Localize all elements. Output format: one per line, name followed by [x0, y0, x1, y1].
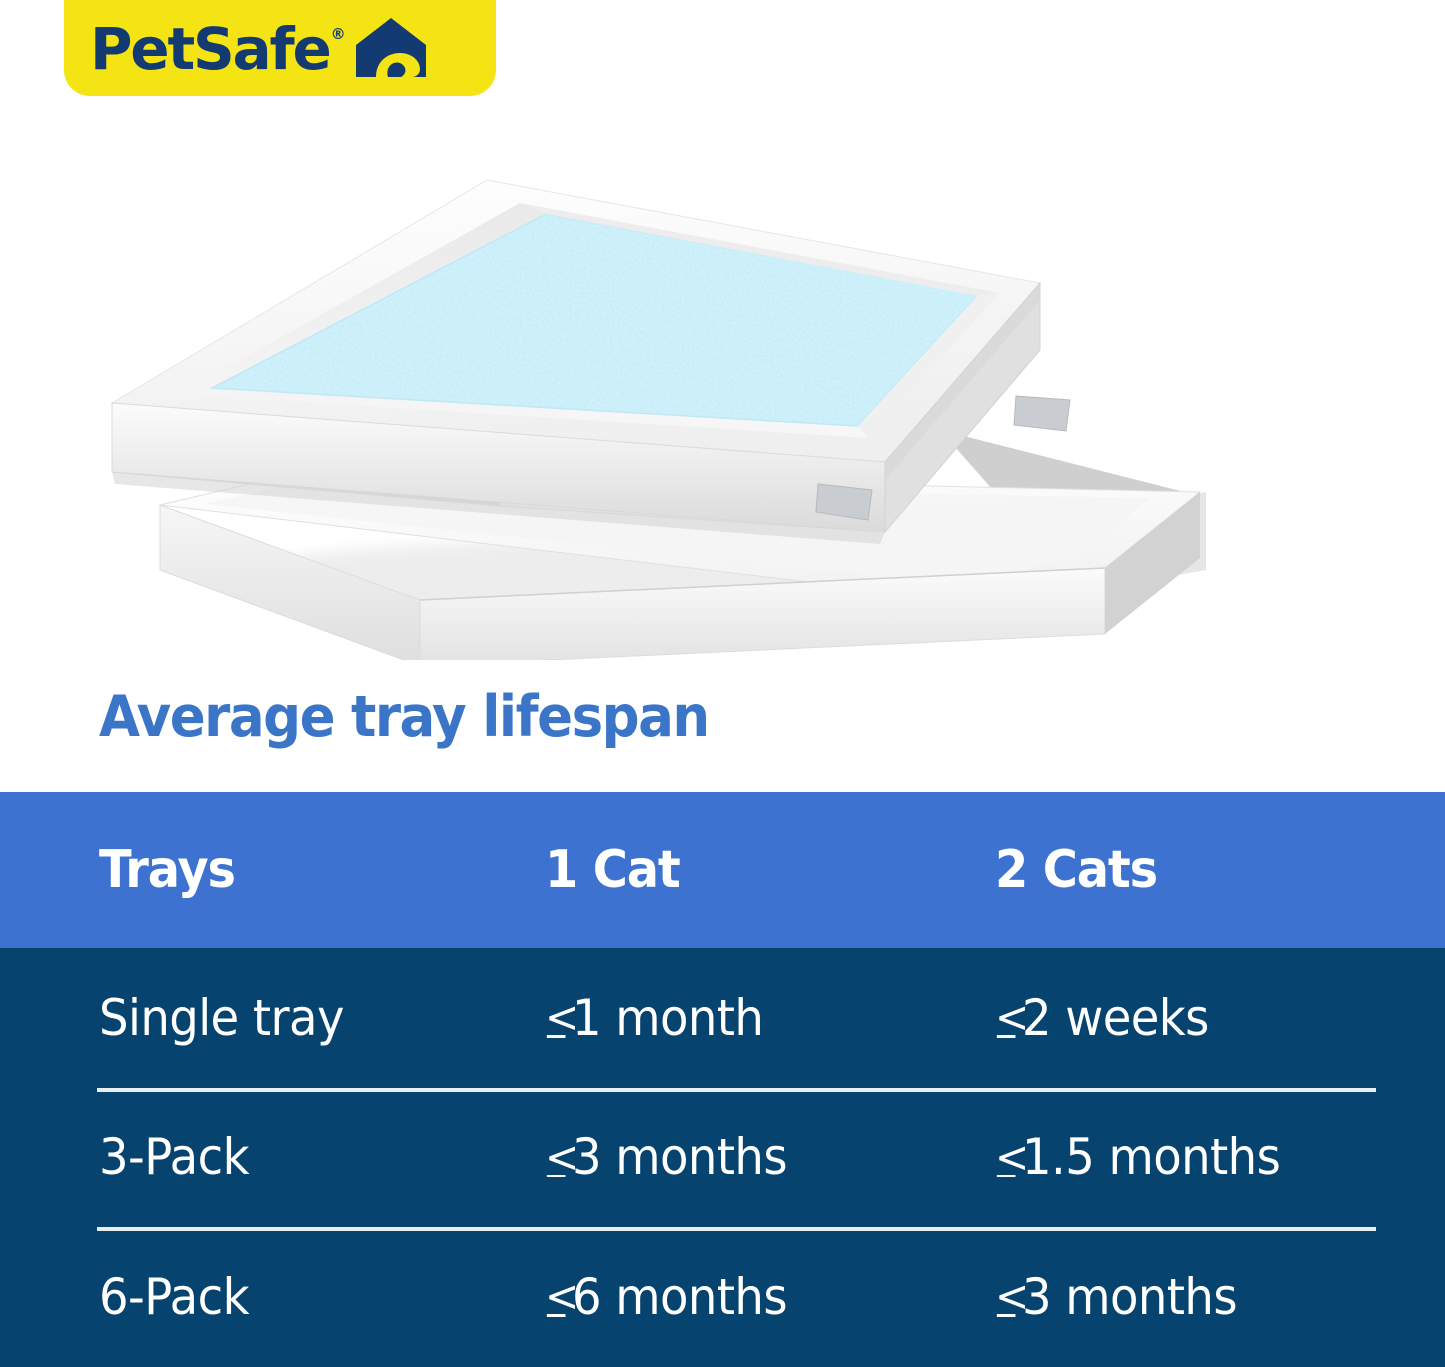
table-row: 3-Pack <3 months <1.5 months	[0, 1088, 1445, 1228]
cell-one-cat-lifespan: <1 month	[545, 993, 763, 1043]
less-than-or-equal-icon: <	[545, 998, 566, 1035]
brand-name-text: PetSafe	[90, 15, 330, 83]
cell-one-cat-lifespan: <6 months	[545, 1272, 787, 1322]
table-header-row: Trays 1 Cat 2 Cats	[0, 792, 1445, 948]
product-photo	[0, 100, 1445, 660]
less-than-or-equal-icon: <	[995, 1137, 1016, 1174]
page-title: Average tray lifespan	[99, 688, 709, 748]
top-tray	[105, 178, 1070, 532]
row-divider	[97, 1088, 1376, 1092]
lifespan-table: Trays 1 Cat 2 Cats Single tray <1 month …	[0, 792, 1445, 1367]
cell-two-cats-lifespan: <1.5 months	[995, 1132, 1280, 1182]
less-than-or-equal-icon: <	[995, 1277, 1016, 1314]
cell-one-cat-value: 3 months	[572, 1128, 787, 1186]
cell-one-cat-value: 6 months	[572, 1268, 787, 1326]
cell-two-cats-lifespan: <2 weeks	[995, 993, 1209, 1043]
brand-wordmark: PetSafe®	[90, 20, 345, 78]
cell-tray-type: 6-Pack	[99, 1272, 249, 1322]
cell-two-cats-lifespan: <3 months	[995, 1272, 1237, 1322]
column-header-two-cats: 2 Cats	[995, 844, 1157, 896]
less-than-or-equal-icon: <	[545, 1277, 566, 1314]
less-than-or-equal-icon: <	[545, 1137, 566, 1174]
house-with-swoosh-icon	[354, 17, 428, 84]
registered-trademark-icon: ®	[331, 25, 346, 43]
table-row: Single tray <1 month <2 weeks	[0, 948, 1445, 1088]
brand-logo-badge: PetSafe®	[64, 0, 496, 96]
cell-tray-type: 3-Pack	[99, 1132, 249, 1182]
cell-tray-type: Single tray	[99, 993, 344, 1043]
less-than-or-equal-icon: <	[995, 998, 1016, 1035]
cell-two-cats-value: 1.5 months	[1022, 1128, 1280, 1186]
table-body: Single tray <1 month <2 weeks 3-Pack <3 …	[0, 948, 1445, 1367]
cell-one-cat-lifespan: <3 months	[545, 1132, 787, 1182]
column-header-one-cat: 1 Cat	[545, 844, 680, 896]
litter-tray-illustration	[0, 100, 1445, 660]
cell-two-cats-value: 3 months	[1022, 1268, 1237, 1326]
tray-tab-icon	[1014, 396, 1070, 431]
row-divider	[97, 1227, 1376, 1231]
column-header-trays: Trays	[99, 844, 235, 896]
cell-one-cat-value: 1 month	[572, 989, 763, 1047]
cell-two-cats-value: 2 weeks	[1022, 989, 1209, 1047]
table-row: 6-Pack <6 months <3 months	[0, 1227, 1445, 1367]
